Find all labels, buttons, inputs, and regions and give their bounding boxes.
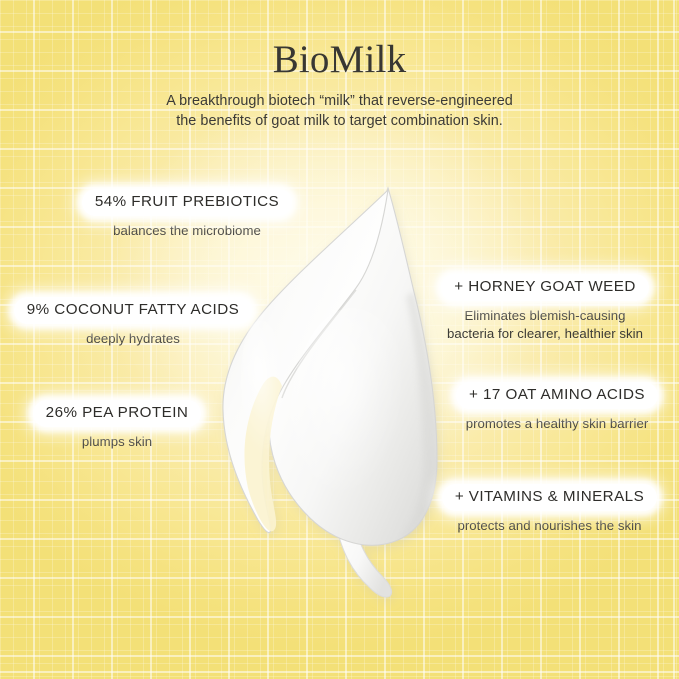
callout-horney-goat-weed: + HORNEY GOAT WEED Eliminates blemish-ca…: [420, 274, 670, 342]
callout-heading-fruit-prebiotics: 54% FRUIT PREBIOTICS: [82, 189, 292, 216]
callout-description-line-1: deeply hydrates: [6, 330, 260, 348]
page-subtitle-line-1: A breakthrough biotech “milk” that rever…: [0, 91, 679, 111]
callout-description-pea-protein: plumps skin: [22, 433, 212, 451]
callout-description-oat-amino-acids: promotes a healthy skin barrier: [443, 415, 671, 433]
callout-description-line-2: bacteria for clearer, healthier skin: [420, 325, 670, 343]
callout-fruit-prebiotics: 54% FRUIT PREBIOTICS balances the microb…: [58, 189, 316, 240]
header: BioMilk A breakthrough biotech “milk” th…: [0, 38, 679, 131]
callout-description-coconut-fatty-acids: deeply hydrates: [6, 330, 260, 348]
callout-heading-pea-protein: 26% PEA PROTEIN: [33, 400, 202, 427]
page-title: BioMilk: [0, 38, 679, 82]
callout-pea-protein: 26% PEA PROTEIN plumps skin: [22, 400, 212, 451]
callout-description-horney-goat-weed: Eliminates blemish-causing bacteria for …: [420, 307, 670, 342]
callout-heading-horney-goat-weed: + HORNEY GOAT WEED: [441, 274, 649, 301]
callout-vitamins-minerals: + VITAMINS & MINERALS protects and nouri…: [428, 484, 671, 535]
callout-oat-amino-acids: + 17 OAT AMINO ACIDS promotes a healthy …: [443, 382, 671, 433]
biomilk-infographic: BioMilk A breakthrough biotech “milk” th…: [0, 0, 679, 679]
callout-description-fruit-prebiotics: balances the microbiome: [58, 222, 316, 240]
callout-description-line-1: Eliminates blemish-causing: [420, 307, 670, 325]
callout-description-vitamins-minerals: protects and nourishes the skin: [428, 517, 671, 535]
callout-description-line-1: protects and nourishes the skin: [428, 517, 671, 535]
page-subtitle-line-2: the benefits of goat milk to target comb…: [0, 111, 679, 131]
page-subtitle: A breakthrough biotech “milk” that rever…: [0, 91, 679, 131]
callout-coconut-fatty-acids: 9% COCONUT FATTY ACIDS deeply hydrates: [6, 297, 260, 348]
callout-description-line-1: promotes a healthy skin barrier: [443, 415, 671, 433]
callout-heading-vitamins-minerals: + VITAMINS & MINERALS: [442, 484, 657, 511]
callout-heading-oat-amino-acids: + 17 OAT AMINO ACIDS: [456, 382, 658, 409]
callout-description-line-1: plumps skin: [22, 433, 212, 451]
callout-heading-coconut-fatty-acids: 9% COCONUT FATTY ACIDS: [14, 297, 252, 324]
callout-description-line-1: balances the microbiome: [58, 222, 316, 240]
